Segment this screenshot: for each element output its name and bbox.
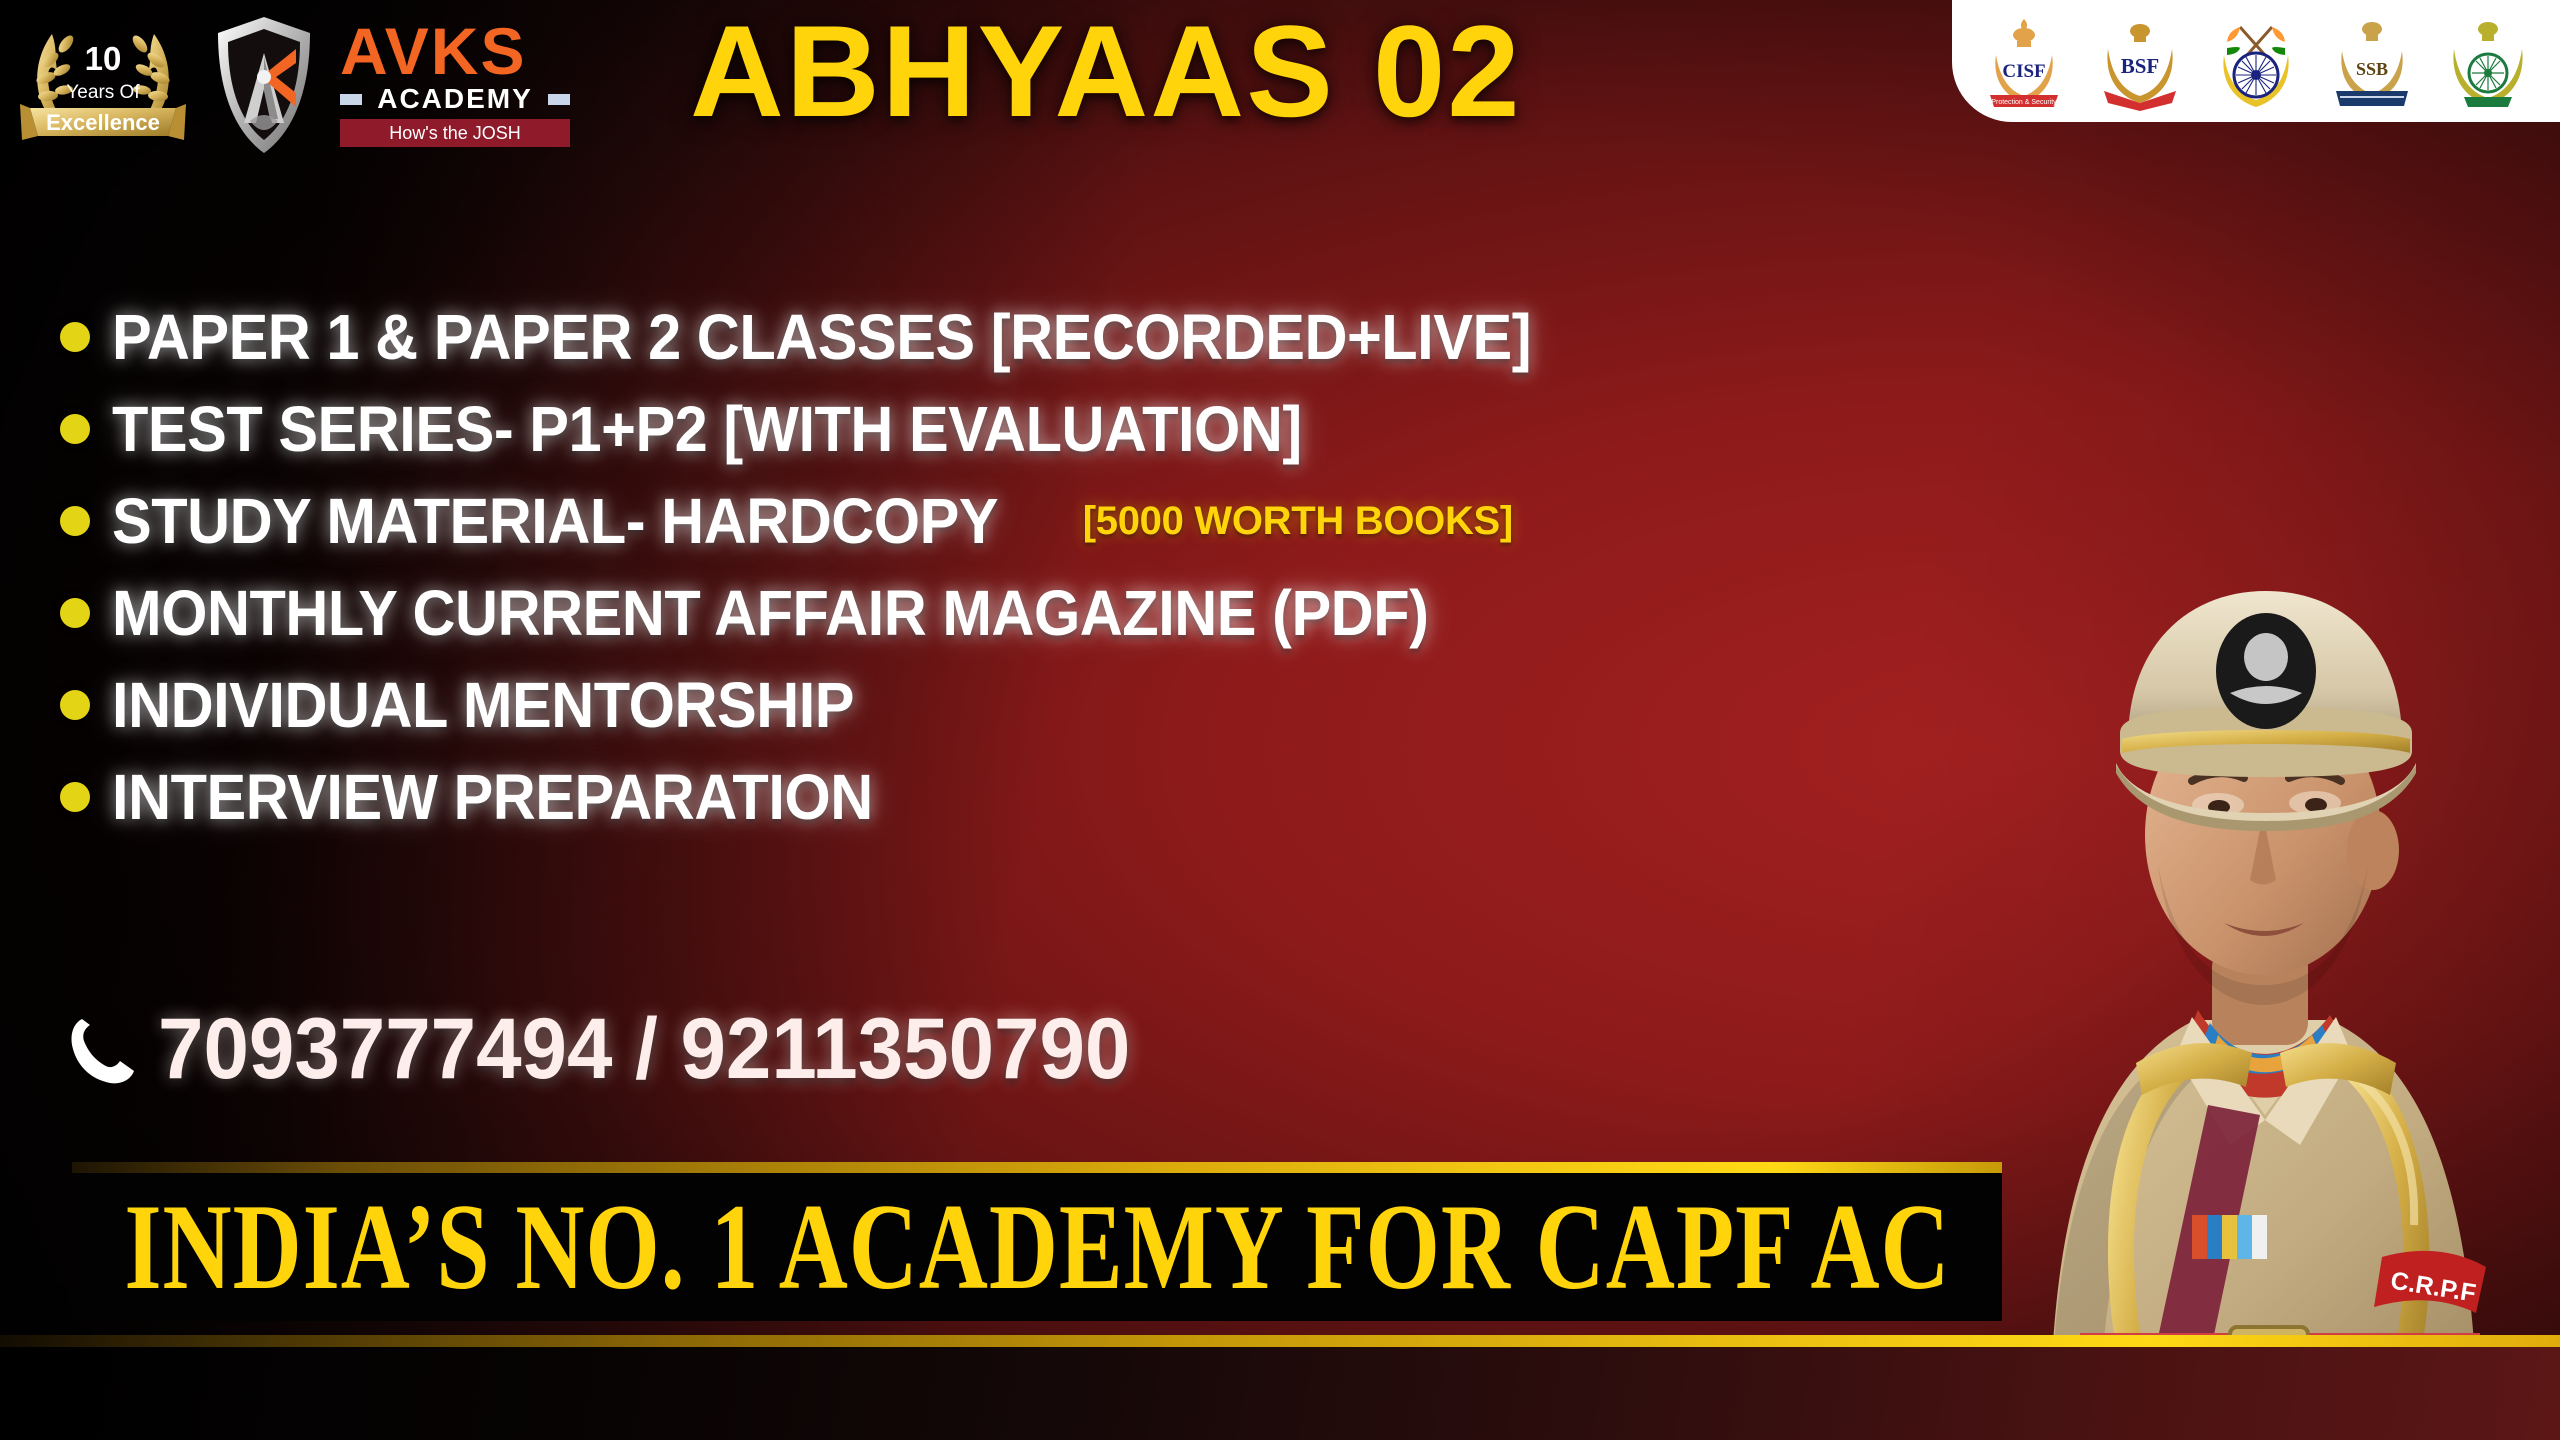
bullet-dot-icon [60, 690, 90, 720]
brand-name: AVKS [340, 16, 526, 88]
list-item: MONTHLY CURRENT AFFAIR MAGAZINE (PDF) [60, 576, 2020, 650]
officer-photo: C.R.P.F [1930, 105, 2560, 1440]
feature-text: PAPER 1 & PAPER 2 CLASSES [RECORDED+LIVE… [112, 300, 1531, 374]
ten-years-excellence-badge: 10 Years Of Excellence [18, 8, 188, 163]
bullet-dot-icon [60, 598, 90, 628]
feature-note: [5000 WORTH BOOKS] [1083, 499, 1513, 544]
cisf-motto: Protection & Security [1991, 99, 2057, 106]
avks-wordmark: AVKS ACADEMY How's the JOSH [340, 16, 570, 156]
laurel-years-of: Years Of [66, 82, 140, 103]
avks-shield-icon [210, 11, 318, 161]
tagline-banner: INDIA’S NO. 1 ACADEMY FOR CAPF AC [72, 1162, 2002, 1332]
bullet-dot-icon [60, 782, 90, 812]
ssb-badge: SSB [2326, 11, 2418, 111]
bottom-strip [0, 1347, 2560, 1440]
force-badge-strip: CISF Protection & Security BSF [1952, 0, 2560, 122]
feature-text: INDIVIDUAL MENTORSHIP [112, 668, 854, 742]
bullet-dot-icon [60, 322, 90, 352]
tagline-plate: INDIA’S NO. 1 ACADEMY FOR CAPF AC [72, 1173, 2002, 1321]
features-list: PAPER 1 & PAPER 2 CLASSES [RECORDED+LIVE… [60, 300, 2020, 852]
itbp-badge [2442, 11, 2534, 111]
laurel-number: 10 [85, 40, 122, 77]
brand-tagline: How's the JOSH [389, 123, 520, 143]
list-item: STUDY MATERIAL- HARDCOPY [5000 WORTH BOO… [60, 484, 2020, 558]
gold-divider-bottom [0, 1335, 2560, 1347]
page-title: ABHYAAS 02 [690, 6, 1522, 136]
gold-divider-top [72, 1162, 2002, 1173]
bsf-badge: BSF [2094, 11, 2186, 111]
list-item: INTERVIEW PREPARATION [60, 760, 2020, 834]
feature-text: STUDY MATERIAL- HARDCOPY [112, 484, 998, 558]
laurel-ribbon: Excellence [46, 110, 160, 135]
cisf-label: CISF [2002, 61, 2045, 82]
tagline-text: INDIA’S NO. 1 ACADEMY FOR CAPF AC [124, 1177, 1950, 1317]
list-item: TEST SERIES- P1+P2 [WITH EVALUATION] [60, 392, 2020, 466]
logo-cluster: 10 Years Of Excellence [18, 8, 570, 163]
phone-icon [62, 1013, 136, 1087]
bullet-dot-icon [60, 414, 90, 444]
brand-sub: ACADEMY [377, 83, 533, 114]
bullet-dot-icon [60, 506, 90, 536]
crpf-badge [2210, 11, 2302, 111]
bsf-label: BSF [2121, 54, 2160, 78]
feature-text: INTERVIEW PREPARATION [112, 760, 873, 834]
cisf-badge: CISF Protection & Security [1978, 11, 2070, 111]
list-item: INDIVIDUAL MENTORSHIP [60, 668, 2020, 742]
contact-row[interactable]: 7093777494 / 9211350790 [62, 1000, 1182, 1099]
ssb-label: SSB [2356, 59, 2388, 79]
feature-text: MONTHLY CURRENT AFFAIR MAGAZINE (PDF) [112, 576, 1428, 650]
feature-text: TEST SERIES- P1+P2 [WITH EVALUATION] [112, 392, 1302, 466]
promo-banner: C.R.P.F [0, 0, 2560, 1440]
list-item: PAPER 1 & PAPER 2 CLASSES [RECORDED+LIVE… [60, 300, 2020, 374]
phone-numbers: 7093777494 / 9211350790 [158, 1000, 1130, 1099]
